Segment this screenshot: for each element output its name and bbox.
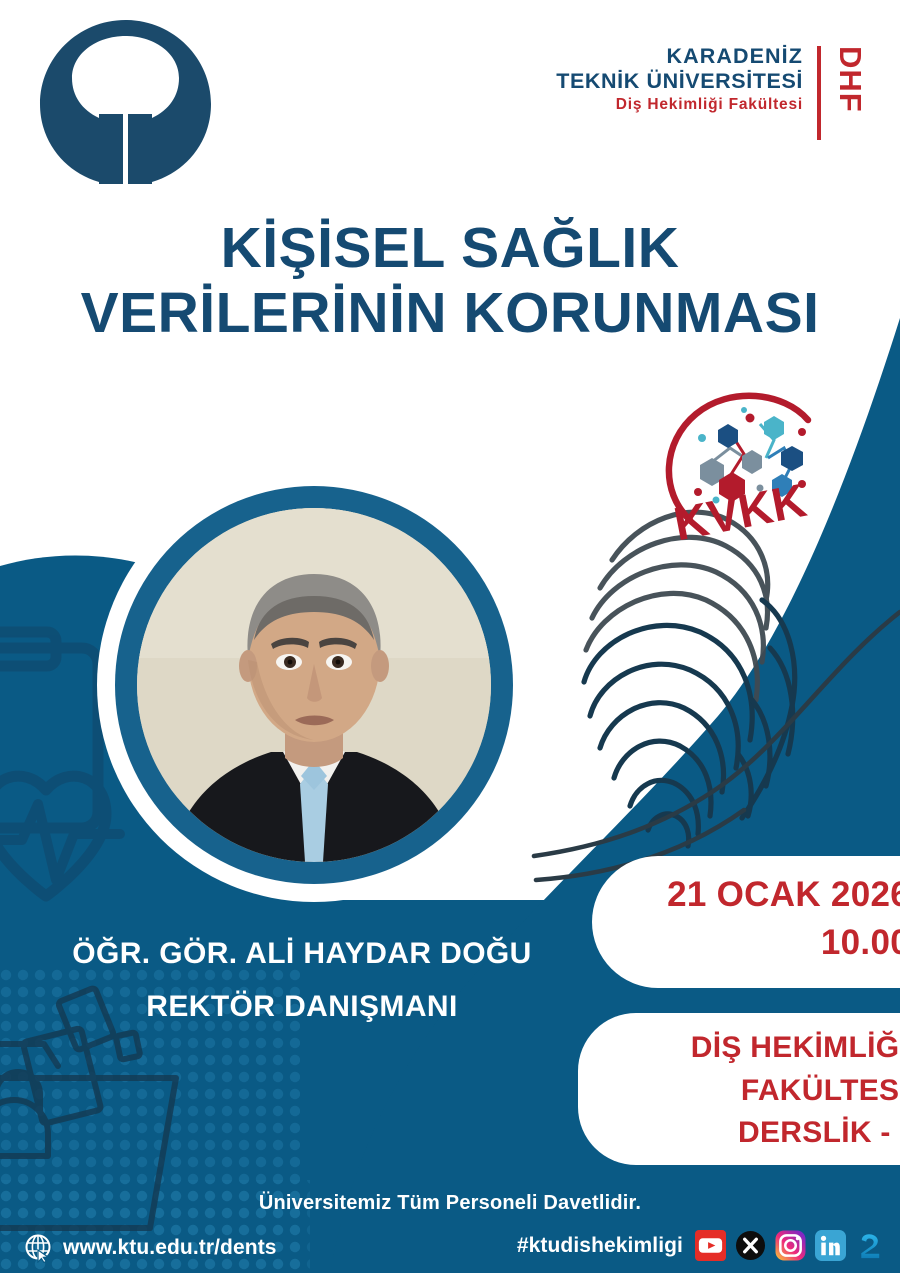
brand-divider <box>817 46 821 140</box>
brand-line-1: KARADENİZ <box>556 44 803 69</box>
hashtag: #ktudishekimligi <box>517 1234 683 1258</box>
title-line-1: KİŞİSEL SAĞLIK <box>0 216 900 281</box>
speaker-block: ÖĞR. GÖR. ALİ HAYDAR DOĞU REKTÖR DANIŞMA… <box>0 936 604 1024</box>
bip-icon[interactable] <box>855 1230 886 1261</box>
instagram-icon[interactable] <box>775 1230 806 1261</box>
event-date-card: 21 OCAK 2026 10.00 <box>592 856 900 988</box>
kvkk-wordmark: KVKK <box>670 473 811 548</box>
event-venue-card: DİŞ HEKİMLİĞİ FAKÜLTESİ DERSLİK - I <box>578 1013 900 1165</box>
invitation-text: Üniversitemiz Tüm Personeli Davetlidir. <box>0 1192 900 1215</box>
kvkk-logo: KVKK <box>656 388 846 548</box>
title-line-2: VERİLERİNİN KORUNMASI <box>0 281 900 346</box>
x-twitter-icon[interactable] <box>735 1230 766 1261</box>
website-row[interactable]: www.ktu.edu.tr/dents <box>24 1233 277 1263</box>
brand-line-3: Diş Hekimliği Fakültesi <box>556 93 803 116</box>
poster-root: KARADENİZ TEKNİK ÜNİVERSİTESİ Diş Hekiml… <box>0 0 900 1273</box>
globe-cursor-icon <box>24 1233 54 1263</box>
social-row: #ktudishekimligi <box>517 1230 886 1261</box>
speaker-portrait <box>97 468 531 902</box>
brand-block: KARADENİZ TEKNİK ÜNİVERSİTESİ Diş Hekiml… <box>556 44 866 140</box>
speaker-role: REKTÖR DANIŞMANI <box>0 990 604 1024</box>
brand-lines: KARADENİZ TEKNİK ÜNİVERSİTESİ Diş Hekiml… <box>556 44 803 116</box>
event-time: 10.00 <box>592 924 900 963</box>
venue-line-2: FAKÜLTESİ <box>578 1070 900 1113</box>
brand-line-2: TEKNİK ÜNİVERSİTESİ <box>556 69 803 94</box>
website-url[interactable]: www.ktu.edu.tr/dents <box>63 1236 277 1260</box>
portrait-photo <box>137 508 491 862</box>
page-title: KİŞİSEL SAĞLIK VERİLERİNİN KORUNMASI <box>0 216 900 346</box>
youtube-icon[interactable] <box>695 1230 726 1261</box>
brand-abbreviation: DHF <box>835 46 866 113</box>
venue-line-1: DİŞ HEKİMLİĞİ <box>578 1027 900 1070</box>
linkedin-icon[interactable] <box>815 1230 846 1261</box>
speaker-name: ÖĞR. GÖR. ALİ HAYDAR DOĞU <box>0 936 604 972</box>
event-date: 21 OCAK 2026 <box>592 876 900 915</box>
venue-line-3: DERSLİK - I <box>578 1112 900 1155</box>
ktu-omega-logo <box>38 18 213 186</box>
